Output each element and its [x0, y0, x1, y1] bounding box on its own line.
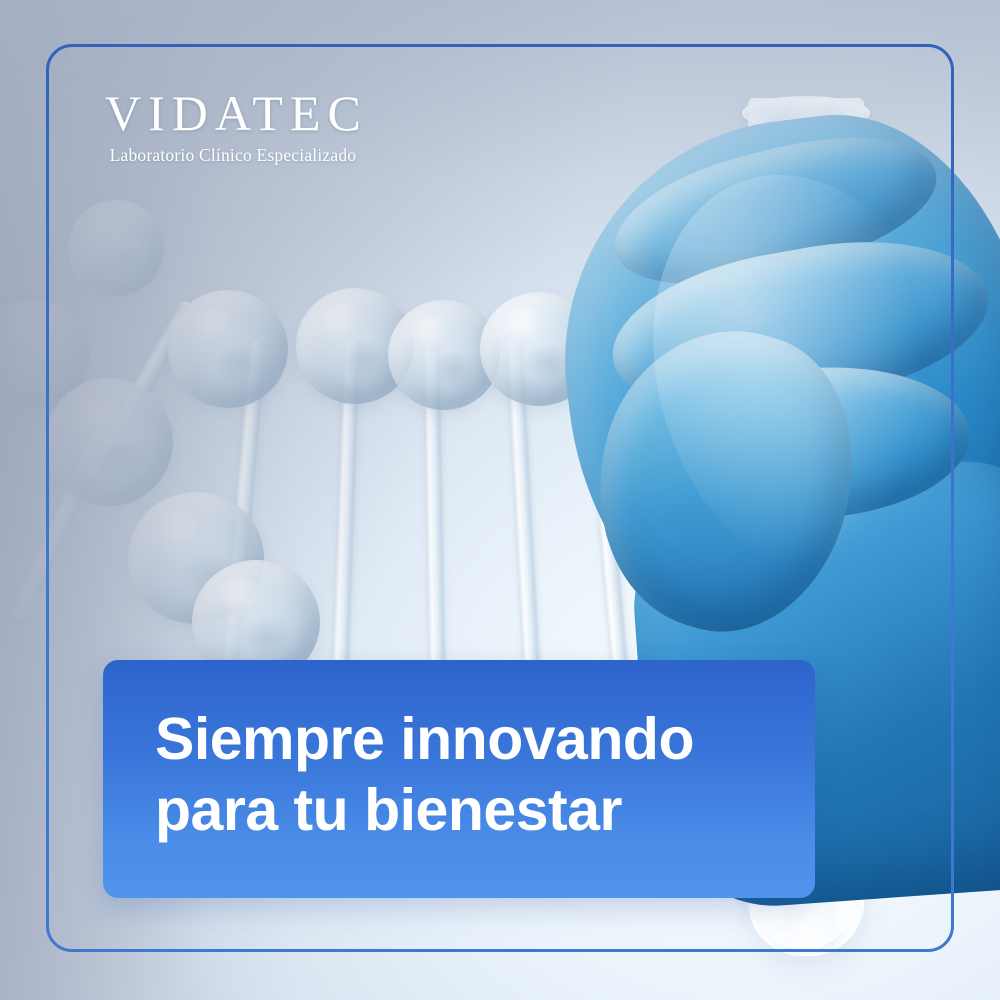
promo-poster: VIDATEC Laboratorio Clínico Especializad…	[0, 0, 1000, 1000]
headline-line-1: Siempre innovando	[155, 704, 694, 775]
headline-banner: Siempre innovando para tu bienestar	[103, 660, 815, 898]
headline-line-2: para tu bienestar	[155, 775, 694, 846]
brand-name: VIDATEC	[98, 88, 368, 138]
brand-logo: VIDATEC Laboratorio Clínico Especializad…	[98, 88, 368, 166]
brand-tagline: Laboratorio Clínico Especializado	[98, 145, 368, 166]
headline-text: Siempre innovando para tu bienestar	[155, 704, 694, 846]
